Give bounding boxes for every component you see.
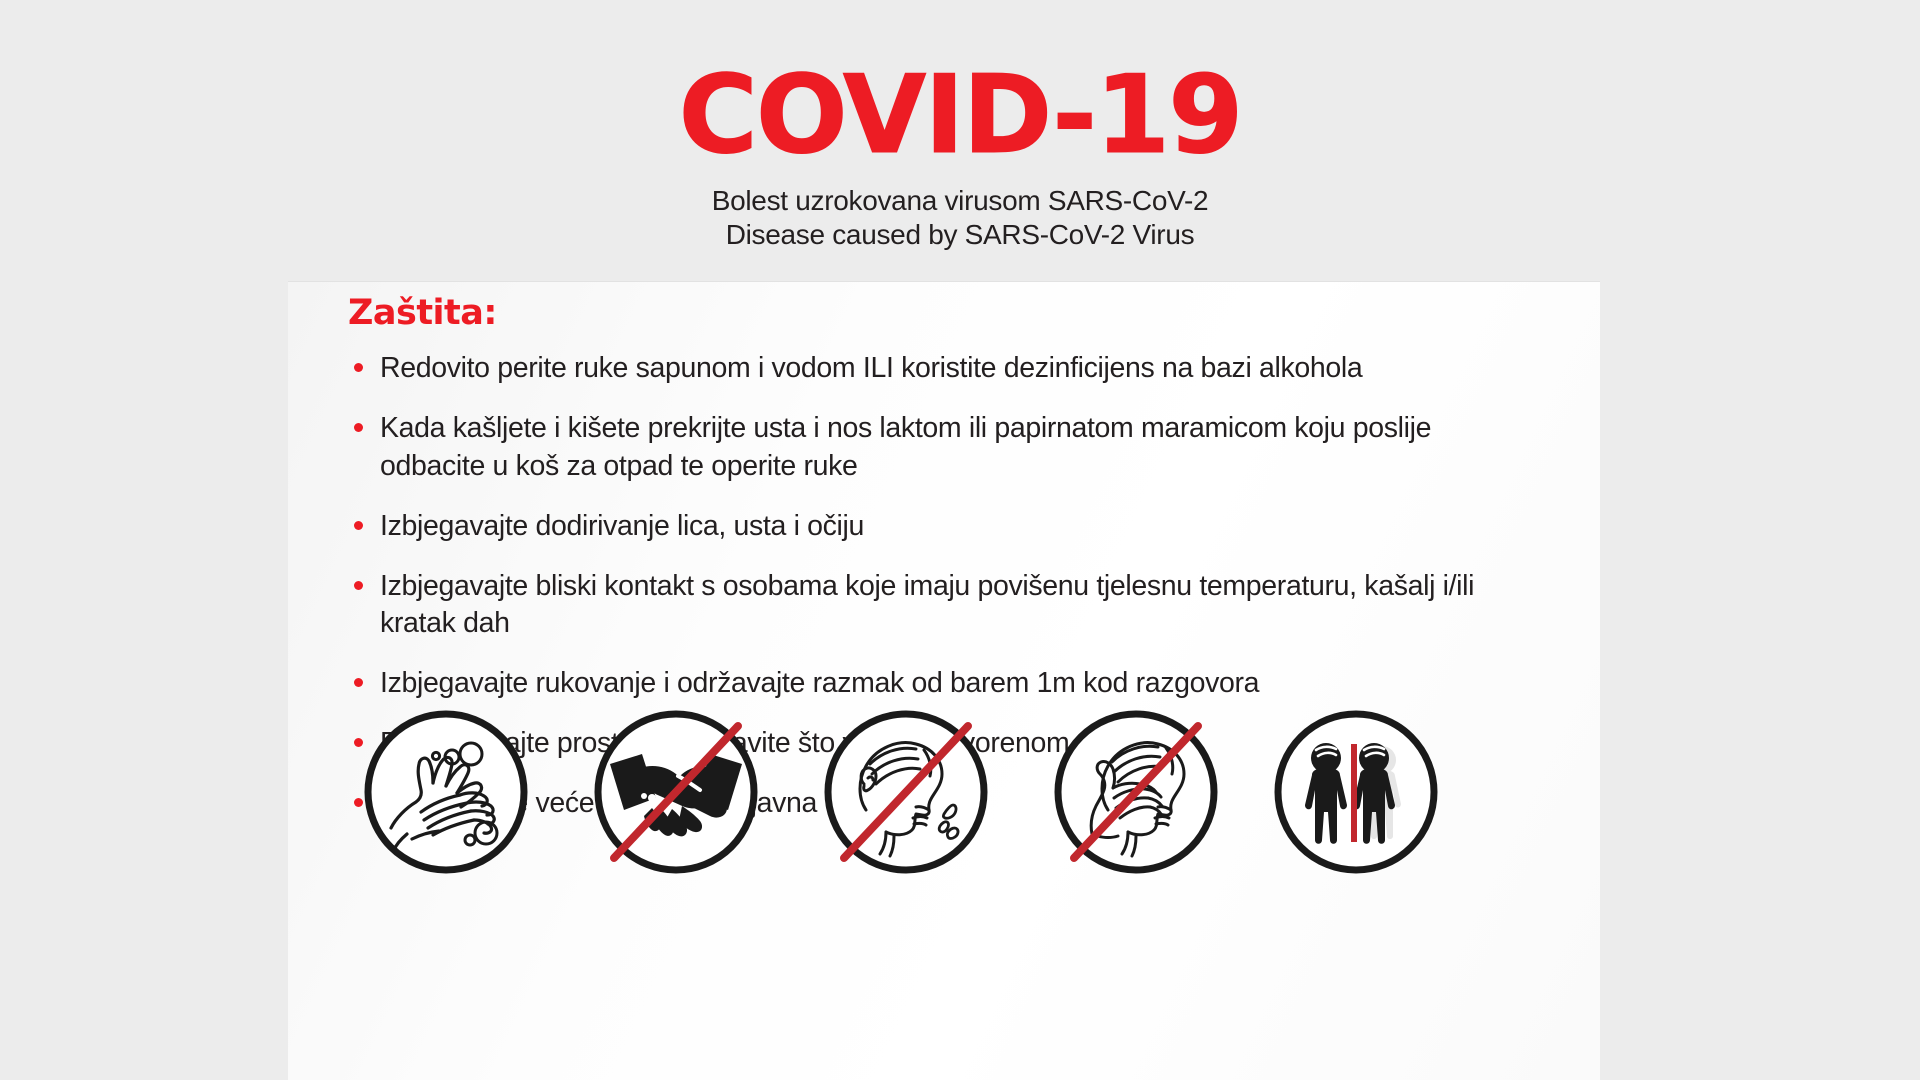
icon-cell-wash-hands (338, 706, 554, 878)
prevention-icon-row (288, 706, 1600, 878)
list-item: Kada kašljete i kišete prekrijte usta i … (348, 410, 1528, 486)
list-item: Izbjegavajte bliski kontakt s osobama ko… (348, 568, 1528, 644)
list-item: Izbjegavajte rukovanje i održavajte razm… (348, 665, 1528, 703)
covid-poster: COVID-19 Bolest uzrokovana virusom SARS-… (0, 0, 1920, 1080)
list-item: Izbjegavajte dodirivanje lica, usta i oč… (348, 508, 1528, 546)
icon-cell-no-spitting (798, 706, 1014, 878)
icon-cell-no-touching-face (1028, 706, 1244, 878)
section-heading-protection: Zaštita: (348, 293, 497, 333)
icon-cell-social-distancing (1258, 706, 1454, 878)
protection-panel: Zaštita: Redovito perite ruke sapunom i … (288, 281, 1600, 1080)
icon-cell-no-handshake (568, 706, 784, 878)
wash-hands-icon (360, 706, 532, 878)
subtitle-english: Disease caused by SARS-CoV-2 Virus (0, 218, 1920, 252)
no-handshake-icon (590, 706, 762, 878)
social-distancing-icon (1270, 706, 1442, 878)
no-touching-face-icon (1050, 706, 1222, 878)
poster-header: COVID-19 Bolest uzrokovana virusom SARS-… (0, 0, 1920, 280)
list-item: Redovito perite ruke sapunom i vodom ILI… (348, 350, 1528, 388)
page-title: COVID-19 (0, 0, 1920, 170)
no-spitting-icon (820, 706, 992, 878)
